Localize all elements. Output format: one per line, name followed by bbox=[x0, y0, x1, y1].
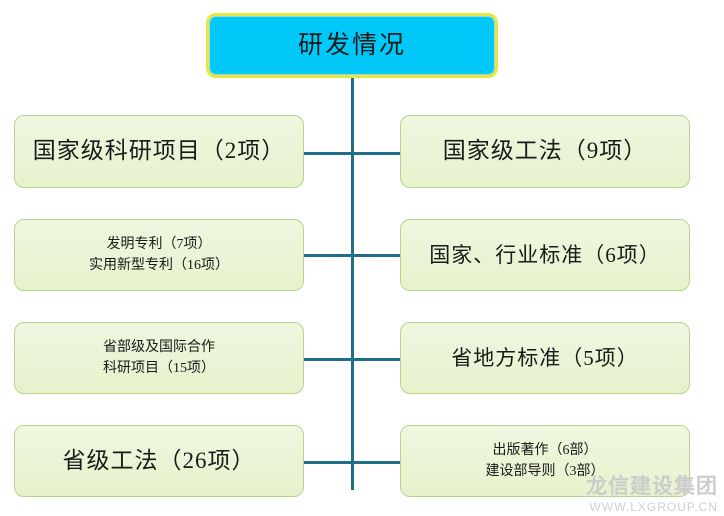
watermark-company: 龙信建设集团 bbox=[586, 470, 718, 500]
left-node-4-label: 省级工法（26项） bbox=[63, 447, 256, 476]
right-node-3[interactable]: 省地方标准（5项） bbox=[400, 322, 690, 394]
left-node-1[interactable]: 国家级科研项目（2项） bbox=[14, 115, 304, 188]
right-node-1-label: 国家级工法（9项） bbox=[443, 137, 648, 166]
diagram-canvas: 研发情况 国家级科研项目（2项） 发明专利（7项） 实用新型专利（16项） 省部… bbox=[0, 0, 724, 516]
left-node-2-label: 发明专利（7项） 实用新型专利（16项） bbox=[89, 234, 229, 276]
root-node-label: 研发情况 bbox=[298, 30, 406, 61]
connector-root-stem bbox=[351, 78, 354, 490]
connector-right-4 bbox=[351, 461, 401, 464]
right-node-2[interactable]: 国家、行业标准（6项） bbox=[400, 219, 690, 291]
left-node-4[interactable]: 省级工法（26项） bbox=[14, 425, 304, 497]
connector-left-1 bbox=[303, 152, 353, 155]
left-node-3[interactable]: 省部级及国际合作 科研项目（15项） bbox=[14, 322, 304, 394]
connector-left-4 bbox=[303, 461, 353, 464]
watermark-url: WWW.LXGROUP.CN bbox=[586, 500, 718, 514]
left-node-2[interactable]: 发明专利（7项） 实用新型专利（16项） bbox=[14, 219, 304, 291]
left-node-1-label: 国家级科研项目（2项） bbox=[33, 137, 286, 166]
connector-left-2 bbox=[303, 254, 353, 257]
root-node[interactable]: 研发情况 bbox=[206, 13, 498, 78]
right-node-3-label: 省地方标准（5项） bbox=[451, 345, 639, 371]
watermark: 龙信建设集团 WWW.LXGROUP.CN bbox=[586, 470, 718, 514]
left-node-3-label: 省部级及国际合作 科研项目（15项） bbox=[103, 337, 215, 379]
connector-right-3 bbox=[351, 358, 401, 361]
connector-right-2 bbox=[351, 254, 401, 257]
right-node-2-label: 国家、行业标准（6项） bbox=[429, 242, 661, 268]
right-node-1[interactable]: 国家级工法（9项） bbox=[400, 115, 690, 188]
connector-right-1 bbox=[351, 152, 401, 155]
connector-left-3 bbox=[303, 358, 353, 361]
